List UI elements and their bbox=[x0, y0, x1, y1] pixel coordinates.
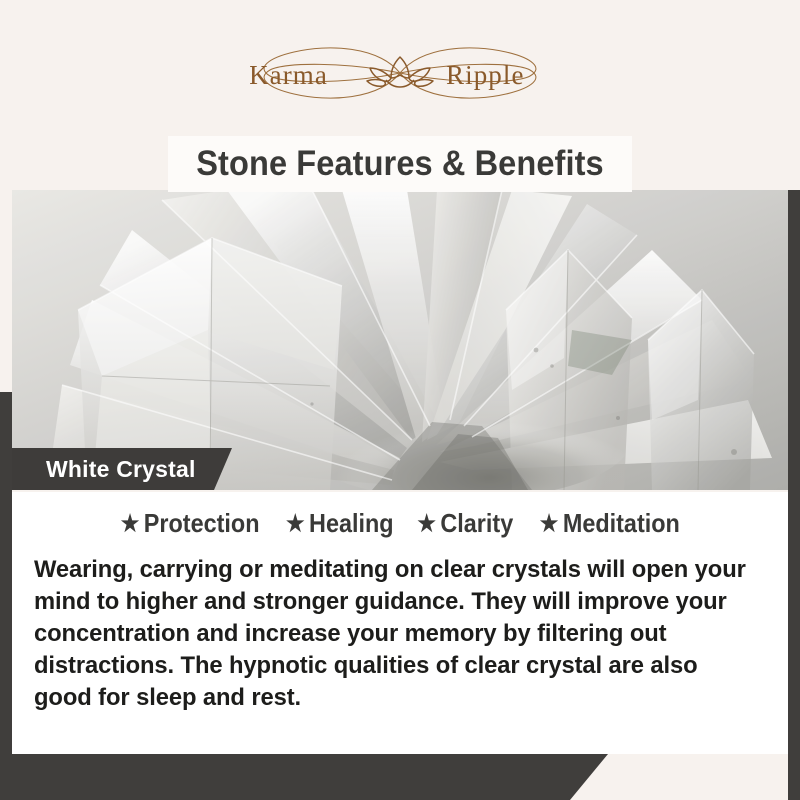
poster: White Crystal ★Protection★Healing★Clarit… bbox=[0, 0, 800, 800]
description-text: Wearing, carrying or meditating on clear… bbox=[34, 554, 748, 714]
star-icon: ★ bbox=[418, 510, 437, 537]
stone-name-label: White Crystal bbox=[46, 448, 196, 490]
benefit-item-healing: ★Healing bbox=[286, 508, 394, 539]
frame-left-accent bbox=[0, 392, 12, 800]
brand-logo-mark: Karma Ripple bbox=[250, 40, 550, 106]
stone-name-banner: White Crystal bbox=[12, 448, 232, 490]
brand-logo: Karma Ripple bbox=[250, 40, 550, 106]
brand-name-right: Ripple bbox=[446, 60, 525, 90]
benefit-label: Healing bbox=[309, 508, 394, 538]
page-title: Stone Features & Benefits bbox=[184, 136, 616, 192]
crystal-photo bbox=[12, 190, 788, 490]
benefits-list: ★Protection★Healing★Clarity★Meditation bbox=[12, 508, 788, 539]
benefit-label: Protection bbox=[143, 508, 259, 538]
benefit-label: Meditation bbox=[563, 508, 680, 538]
brand-name-left: Karma bbox=[250, 60, 328, 90]
frame-bottom-accent bbox=[0, 754, 608, 800]
description-card: ★Protection★Healing★Clarity★Meditation W… bbox=[12, 492, 788, 754]
benefit-item-meditation: ★Meditation bbox=[540, 508, 680, 539]
star-icon: ★ bbox=[540, 510, 559, 537]
benefit-label: Clarity bbox=[441, 508, 514, 538]
star-icon: ★ bbox=[286, 510, 305, 537]
star-icon: ★ bbox=[120, 510, 139, 537]
benefit-item-protection: ★Protection bbox=[120, 508, 259, 539]
crystal-photo-image bbox=[12, 190, 788, 490]
lotus-icon bbox=[367, 57, 433, 87]
page-title-band: Stone Features & Benefits bbox=[168, 136, 632, 192]
benefit-item-clarity: ★Clarity bbox=[418, 508, 514, 539]
header: Karma Ripple Stone Features & Benefits bbox=[0, 0, 800, 190]
